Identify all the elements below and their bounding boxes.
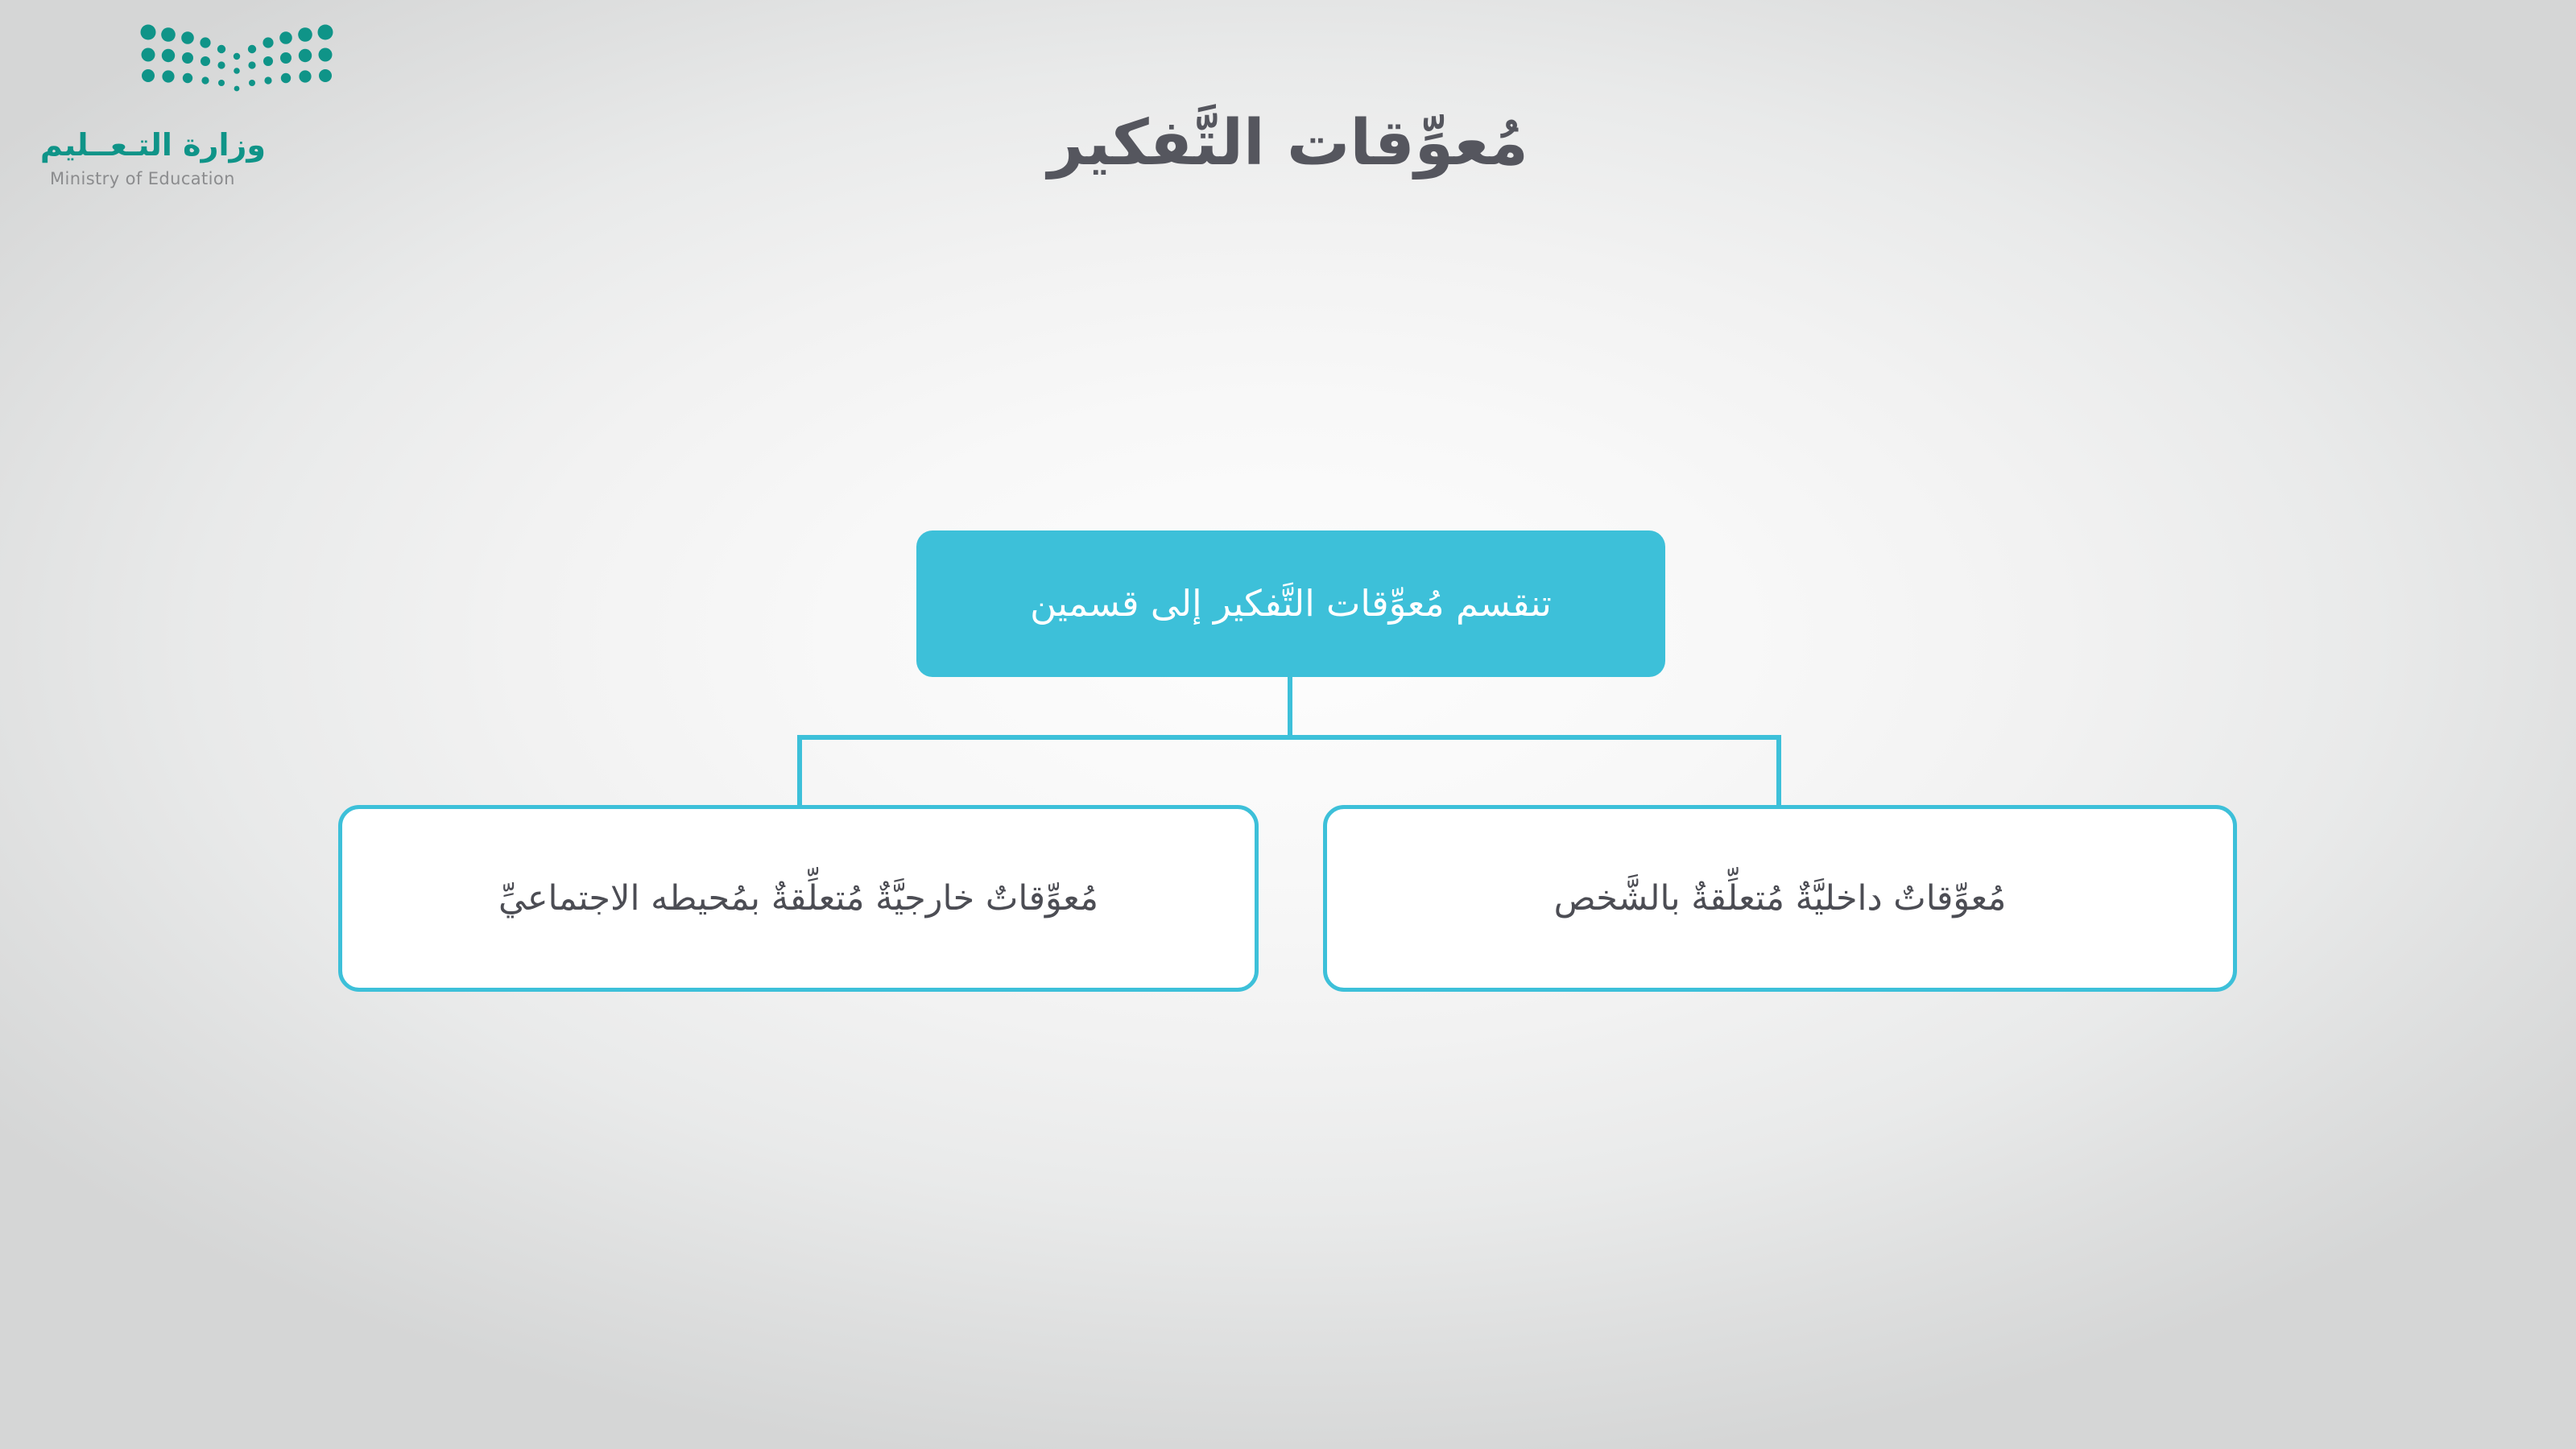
- connector-drop-right: [1776, 735, 1781, 807]
- diagram-root-node[interactable]: تنقسم مُعوِّقات التَّفكير إلى قسمين: [916, 530, 1665, 677]
- diagram-child-node-internal[interactable]: مُعوِّقاتٌ داخليَّةٌ مُتعلِّقةٌ بالشَّخص: [1323, 805, 2237, 992]
- slide-canvas: وزارة التـعــليم Ministry of Education م…: [0, 0, 2576, 1449]
- connector-drop-left: [797, 735, 802, 807]
- connector-root-stem: [1288, 677, 1292, 740]
- thinking-obstacles-diagram: تنقسم مُعوِّقات التَّفكير إلى قسمين مُعو…: [0, 0, 2576, 1449]
- diagram-child-node-external[interactable]: مُعوِّقاتٌ خارجيَّةٌ مُتعلِّقةٌ بمُحيطه …: [338, 805, 1259, 992]
- connector-split-bar: [797, 735, 1781, 740]
